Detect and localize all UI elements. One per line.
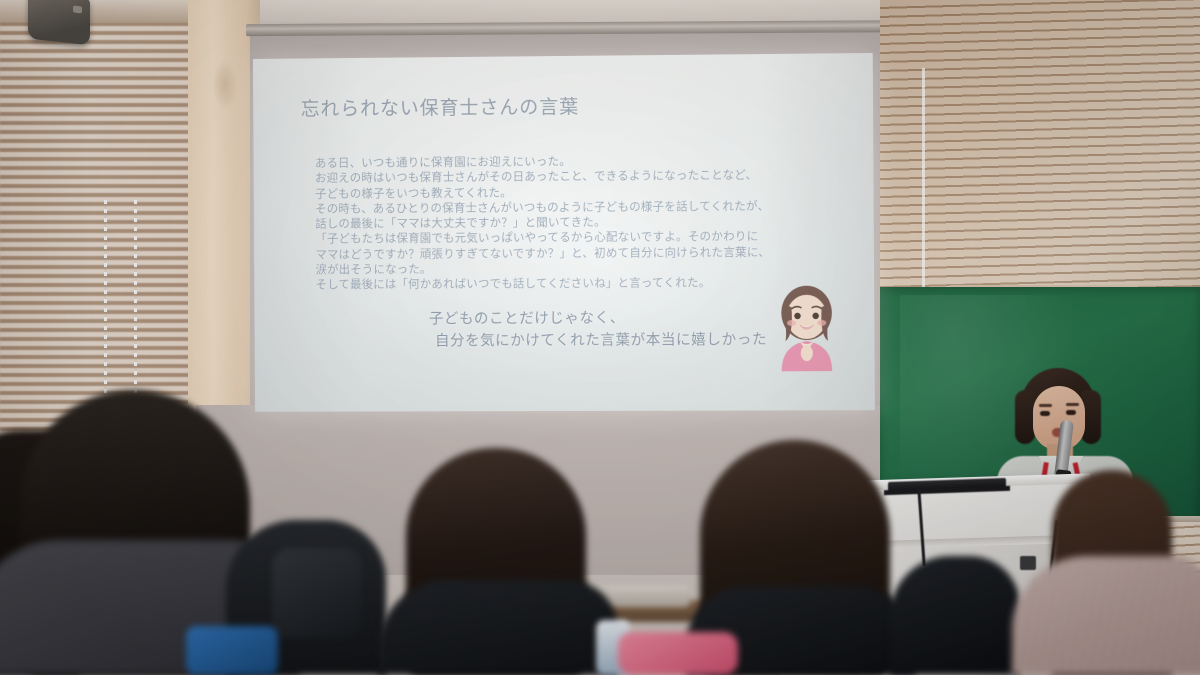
slide-body-line: ママはどうですか？頑張りすぎてないですか？」と、初めて自分に向けられた言葉に、 xyxy=(315,244,845,262)
wall-socket xyxy=(1020,556,1036,570)
speaker-indicator xyxy=(73,5,82,13)
presenter-eye xyxy=(1040,411,1050,416)
presenter-eyebrow xyxy=(1066,403,1079,406)
audience-member-sweater xyxy=(1012,556,1200,675)
projected-slide: 忘れられない保育士さんの言葉 ある日、いつも通りに保育園にお迎えにいった。 お迎… xyxy=(253,53,875,412)
wall-smudge xyxy=(212,60,238,110)
audience-member-body xyxy=(378,580,618,675)
window-blinds xyxy=(0,8,196,438)
wood-slat-wall xyxy=(880,0,1200,300)
presenter-hair-side xyxy=(1015,390,1035,444)
bag-item xyxy=(186,626,278,675)
presenter-eyebrow xyxy=(1039,404,1052,407)
smiling-woman-illustration xyxy=(769,283,844,372)
slide-title: 忘れられない保育士さんの言葉 xyxy=(301,92,580,121)
wall-seam xyxy=(922,68,925,290)
audience-member xyxy=(890,556,1020,675)
ceiling-speaker-icon xyxy=(28,0,90,45)
slide-body-text: ある日、いつも通りに保育園にお迎えにいった。 お迎えの時はいつも保育士さんがその… xyxy=(315,152,846,293)
backpack xyxy=(272,548,362,638)
presenter-eye xyxy=(1066,410,1076,415)
lecture-hall-scene: 忘れられない保育士さんの言葉 ある日、いつも通りに保育園にお迎えにいった。 お迎… xyxy=(0,0,1200,675)
slide-body-line: そして最後には「何かあればいつでも話してくださいね」と言ってくれた。 xyxy=(316,275,846,293)
pink-bag xyxy=(618,632,738,675)
